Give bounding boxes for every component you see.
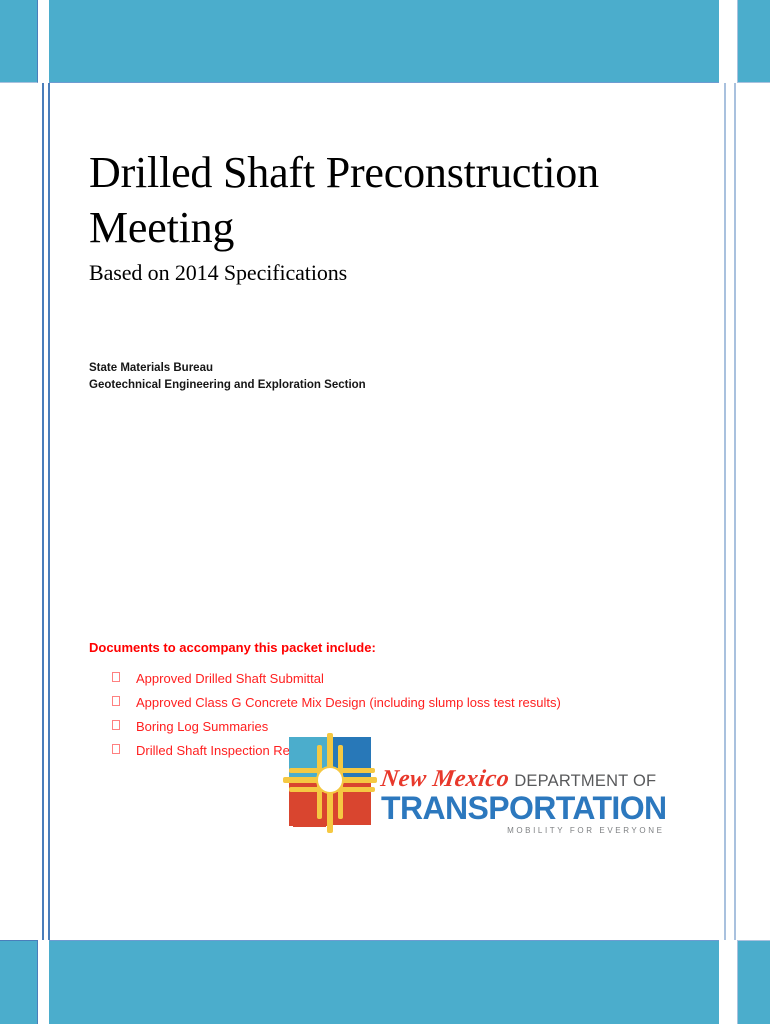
nmdot-logo: New Mexico DEPARTMENT OF TRANSPORTATION … xyxy=(283,733,635,837)
empty-box-icon xyxy=(112,744,120,754)
left-vertical-rule-outer xyxy=(42,83,44,940)
right-vertical-rule-inner xyxy=(724,83,726,940)
list-item: Approved Class G Concrete Mix Design (in… xyxy=(89,693,689,713)
banner-bottom-right-block xyxy=(737,940,770,1024)
issuing-organization: State Materials Bureau Geotechnical Engi… xyxy=(89,360,689,395)
logo-tagline: MOBILITY FOR EVERYONE xyxy=(381,826,667,835)
list-item-label: Boring Log Summaries xyxy=(136,717,268,737)
left-vertical-rule-inner xyxy=(48,83,50,940)
document-title: Drilled Shaft Preconstruction Meeting xyxy=(89,83,689,256)
banner-bottom-main-block xyxy=(49,940,719,1024)
zia-sun-symbol-icon xyxy=(283,733,379,833)
organization-section: Geotechnical Engineering and Exploration… xyxy=(89,377,689,394)
right-vertical-rule-outer xyxy=(734,83,736,940)
organization-bureau: State Materials Bureau xyxy=(89,360,689,377)
nmdot-logo-line-one: New Mexico DEPARTMENT OF xyxy=(381,767,667,791)
banner-top-main-block xyxy=(49,0,719,83)
attachments-heading: Documents to accompany this packet inclu… xyxy=(89,640,689,655)
banner-top-left-block xyxy=(0,0,38,83)
banner-top-right-block xyxy=(737,0,770,83)
empty-box-icon xyxy=(112,696,120,706)
empty-box-icon xyxy=(112,720,120,730)
document-subtitle: Based on 2014 Specifications xyxy=(89,260,689,286)
list-item: Approved Drilled Shaft Submittal xyxy=(89,669,689,689)
empty-box-icon xyxy=(112,672,120,682)
transportation-text: TRANSPORTATION xyxy=(381,792,667,825)
new-mexico-script-text: New Mexico xyxy=(379,767,511,791)
list-item-label: Approved Class G Concrete Mix Design (in… xyxy=(136,693,561,713)
banner-bottom-left-block xyxy=(0,940,38,1024)
department-of-text: DEPARTMENT OF xyxy=(514,773,656,790)
nmdot-logo-wordmark: New Mexico DEPARTMENT OF TRANSPORTATION … xyxy=(381,733,667,835)
list-item-label: Approved Drilled Shaft Submittal xyxy=(136,669,324,689)
